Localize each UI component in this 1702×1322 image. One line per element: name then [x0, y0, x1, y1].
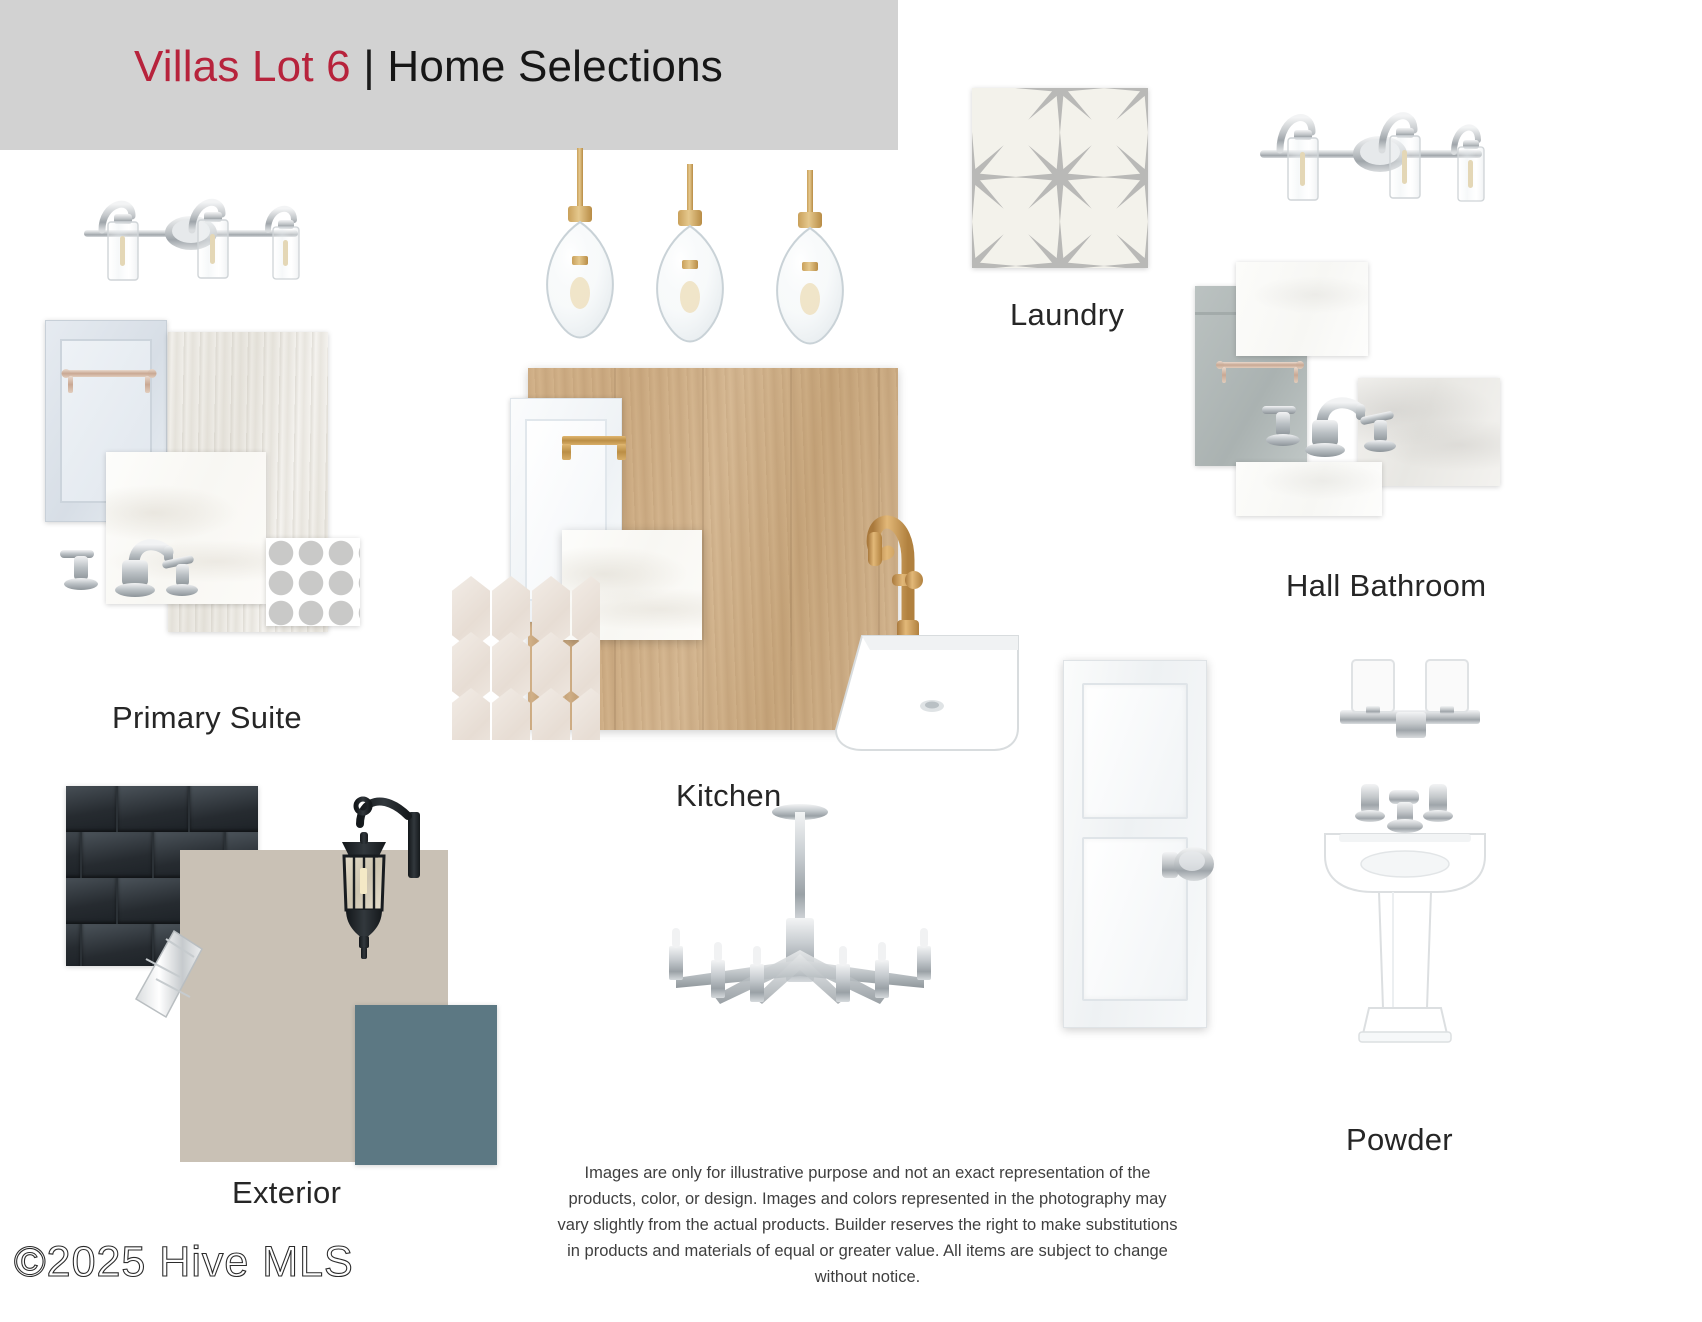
kitchen-sink-icon: [828, 610, 1028, 760]
exterior-accent-color-swatch: [355, 1005, 497, 1165]
page-title: Villas Lot 6 | Home Selections: [134, 42, 723, 92]
primary-cabinet-pull-icon: [54, 360, 164, 404]
kitchen-picket-tile-swatch: [452, 572, 600, 740]
powder-vanity-light-icon: [1322, 652, 1502, 748]
primary-faucet-icon: [36, 520, 206, 600]
primary-penny-tile-swatch: [266, 538, 360, 626]
kitchen-pendant-lights-icon: [530, 148, 890, 368]
dining-chandelier-icon: [650, 800, 950, 1040]
hall-vanity-light-icon: [1242, 90, 1502, 240]
hall-floor-tile-swatch: [1236, 462, 1382, 516]
disclaimer-text: Images are only for illustrative purpose…: [555, 1160, 1180, 1290]
star-motif: [972, 132, 1017, 222]
page-title-accent: Villas Lot 6: [134, 42, 351, 91]
powder-pedestal-sink-icon: [1305, 760, 1505, 1050]
selections-board: Villas Lot 6 | Home Selections: [0, 0, 1702, 1322]
watermark: ©2025 Hive MLS: [14, 1238, 354, 1287]
exterior-lantern-icon: [330, 786, 436, 966]
room-label-exterior: Exterior: [232, 1175, 341, 1211]
star-motif: [1015, 132, 1105, 222]
door-knob-icon: [1152, 838, 1218, 892]
laundry-star-tile-swatch: [972, 88, 1148, 268]
star-motif: [1103, 132, 1148, 222]
star-motif: [1015, 88, 1105, 133]
page-title-separator: |: [363, 42, 375, 91]
room-label-powder: Powder: [1346, 1122, 1453, 1158]
exterior-downspout-icon: [130, 925, 240, 1035]
room-label-primary-suite: Primary Suite: [112, 700, 302, 736]
room-label-laundry: Laundry: [1010, 297, 1124, 333]
primary-vanity-light-icon: [62, 178, 322, 318]
page-title-rest: Home Selections: [387, 42, 723, 91]
star-motif: [1015, 221, 1105, 268]
star-motif: [1103, 221, 1148, 268]
star-motif: [972, 221, 1017, 268]
star-motif: [1103, 88, 1148, 133]
room-label-hall-bathroom: Hall Bathroom: [1286, 568, 1486, 604]
hall-faucet-icon: [1248, 378, 1418, 458]
hall-quartz-swatch: [1236, 262, 1368, 356]
kitchen-cabinet-pull-icon: [556, 430, 634, 466]
